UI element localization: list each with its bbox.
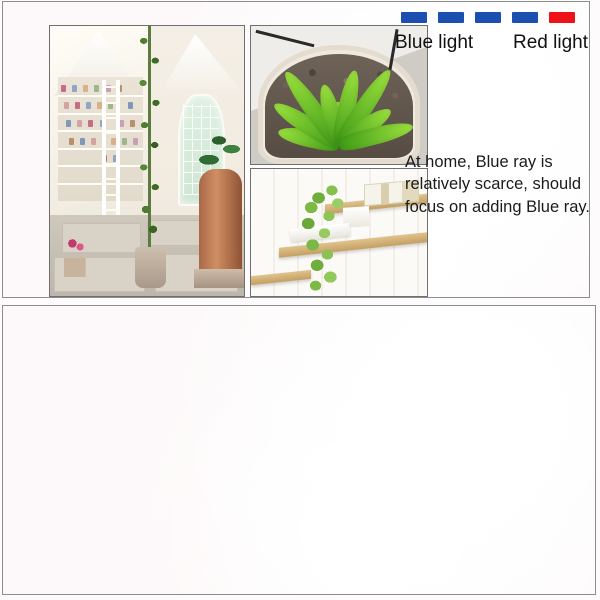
shelf-trailing-ivy: [286, 184, 360, 291]
attic-ladder-rung: [102, 117, 119, 119]
attic-shelf-object: [80, 138, 85, 145]
attic-shelf-object: [97, 102, 102, 109]
legend-dash-blue-1: [401, 12, 427, 23]
attic-shelf-object: [61, 85, 66, 92]
attic-shelf-line: [58, 95, 143, 97]
attic-ladder: [102, 80, 119, 234]
attic-ladder-rung: [102, 132, 119, 134]
attic-ladder-rung: [102, 102, 119, 104]
legend-dash-red-5: [549, 12, 575, 23]
attic-shelf-object: [69, 138, 74, 145]
attic-urn-foliage: [194, 134, 244, 177]
attic-shelf-line: [58, 130, 143, 132]
attic-ladder-rung: [102, 178, 119, 180]
attic-shelf-object: [64, 102, 69, 109]
attic-shelf-object: [88, 120, 93, 127]
photo-attic-room-with-plants: [49, 25, 245, 297]
legend-label-red-light: Red light: [513, 32, 588, 54]
attic-shelf-object: [119, 120, 124, 127]
attic-scene: [50, 26, 244, 296]
attic-shelf-line: [58, 183, 143, 185]
attic-shelf-object: [94, 85, 99, 92]
legend-dash-blue-3: [475, 12, 501, 23]
attic-ladder-rung: [102, 194, 119, 196]
top-legend-labels: Blue light Red light: [395, 32, 590, 54]
poster-stage: Blue light Red light At home, Blue ray i…: [0, 0, 600, 600]
photo-wooden-shelves-with-ivy: [250, 168, 428, 297]
attic-shelf-object: [75, 102, 80, 109]
attic-ladder-rung: [102, 86, 119, 88]
top-panel-body-text: At home, Blue ray is relatively scarce, …: [405, 151, 590, 219]
attic-shelf-object: [86, 102, 91, 109]
attic-flower-pot: [60, 234, 91, 277]
attic-vine-pot: [135, 247, 166, 288]
attic-ladder-rung: [102, 163, 119, 165]
attic-gable-right: [163, 34, 241, 99]
attic-shelf-object: [72, 85, 77, 92]
attic-shelf-line: [58, 165, 143, 167]
top-panel: Blue light Red light At home, Blue ray i…: [2, 1, 590, 298]
attic-terracotta-urn: [199, 169, 242, 288]
attic-shelf-object: [77, 120, 82, 127]
attic-shelf-object: [66, 120, 71, 127]
attic-shelf-object: [128, 102, 133, 109]
attic-shelf-line: [58, 113, 143, 115]
attic-ladder-rung: [102, 148, 119, 150]
bottom-panel-background: [3, 306, 595, 594]
top-legend-swatches: [401, 12, 575, 23]
attic-shelf-object: [91, 138, 96, 145]
attic-bookshelves: [58, 77, 143, 201]
legend-dash-blue-4: [512, 12, 538, 23]
bottom-panel: Natural light Red light Vegetables and s…: [2, 305, 596, 595]
legend-dash-blue-2: [438, 12, 464, 23]
attic-ladder-rung: [102, 209, 119, 211]
attic-shelf-object: [83, 85, 88, 92]
attic-shelf-object: [122, 138, 127, 145]
shelf-scene: [251, 169, 427, 296]
legend-label-blue-light: Blue light: [395, 32, 473, 53]
attic-shelf-line: [58, 148, 143, 150]
attic-climbing-vine: [135, 25, 164, 269]
